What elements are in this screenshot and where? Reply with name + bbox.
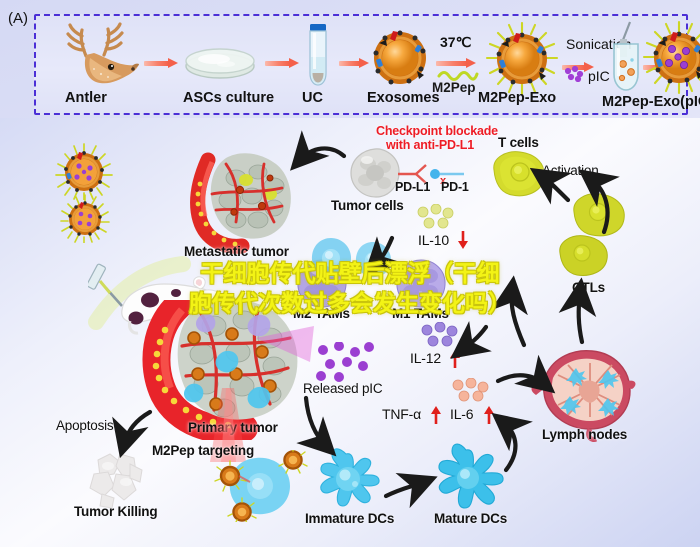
centrifuge-tube-icon xyxy=(303,23,333,87)
label-tumor-killing: Tumor Killing xyxy=(74,504,157,519)
dc-cell-small-icon-2 xyxy=(352,240,394,280)
label-il-6: IL-6 xyxy=(450,406,473,422)
label-ctls: CTLs xyxy=(572,280,605,295)
panel-a-caption-uc: UC xyxy=(302,90,323,106)
il6-up-arrow-icon xyxy=(483,405,495,425)
sonicator-tube-icon xyxy=(608,20,644,92)
label-primary-tumor: Primary tumor xyxy=(188,420,278,435)
pic-particles-icon xyxy=(563,66,585,82)
label-m1-tams: M1 TAMs xyxy=(392,306,449,321)
process-arrow-1 xyxy=(144,58,178,69)
panel-a-caption-ascs: ASCs culture xyxy=(183,90,274,106)
label-activation: Activation xyxy=(542,163,599,178)
panel-a-container: Antler ASCs culture xyxy=(34,14,688,115)
reaction-label-pic: pIC xyxy=(588,68,610,84)
m2pep-targeting-illustration xyxy=(208,450,308,522)
label-metastatic-tumor: Metastatic tumor xyxy=(184,244,289,259)
label-il-12: IL-12 xyxy=(410,350,441,366)
apoptotic-cell-icon xyxy=(82,448,152,510)
dc-cell-small-icon-1 xyxy=(308,236,354,280)
nanoparticle-icon-2 xyxy=(60,193,110,243)
deer-head-icon xyxy=(56,22,142,90)
label-apoptosis: Apoptosis xyxy=(56,418,114,433)
label-mature-dcs: Mature DCs xyxy=(434,511,507,526)
reaction-label-m2pep: M2Pep xyxy=(432,80,476,95)
il12-up-arrow-icon xyxy=(449,349,461,369)
label-tumor-cells: Tumor cells xyxy=(331,198,404,213)
ctl-cell-icon-2 xyxy=(553,232,615,280)
label-lymph-nodes: Lymph nodes xyxy=(542,427,627,442)
label-checkpoint-blockade: Checkpoint blockade xyxy=(376,124,498,138)
exosome-icon xyxy=(371,29,429,87)
panel-a-caption-m2pep-exo: M2Pep-Exo xyxy=(478,90,556,106)
panel-a-caption-exosomes: Exosomes xyxy=(367,90,440,106)
immature-dc-icon xyxy=(310,442,388,516)
process-arrow-3 xyxy=(339,58,369,69)
nanoparticle-icon-1 xyxy=(55,142,113,200)
il12-cytokine-dots xyxy=(418,322,464,350)
metastatic-tumor-icon xyxy=(178,148,306,254)
spacer xyxy=(450,378,452,380)
tnf-cytokine-dots xyxy=(450,378,492,406)
panel-a-caption-m2pep-exo-pic: M2Pep-Exo(pIC) xyxy=(602,94,700,110)
label-pd-l1: PD-L1 xyxy=(395,180,430,194)
petri-dish-icon xyxy=(182,40,258,82)
label-immature-dcs: Immature DCs xyxy=(305,511,394,526)
m1-tam-cell-icon xyxy=(393,258,449,310)
label-anti-pdl1: with anti-PD-L1 xyxy=(386,138,474,152)
primary-tumor-icon xyxy=(138,300,316,440)
il10-cytokine-dots xyxy=(414,204,460,232)
released-pic-dots xyxy=(313,342,377,384)
reaction-label-temperature: 37℃ xyxy=(440,34,471,51)
peptide-exosome-icon xyxy=(485,22,559,96)
mature-dc-icon xyxy=(428,440,510,516)
figure-root: (A) xyxy=(0,0,700,547)
il10-down-arrow-icon xyxy=(457,230,469,250)
tnf-up-arrow-icon xyxy=(430,405,442,425)
label-tnf-alpha: TNF-α xyxy=(382,406,421,422)
label-pd-1: PD-1 xyxy=(441,180,469,194)
process-arrow-2 xyxy=(265,58,299,69)
t-cell-icon xyxy=(484,148,550,200)
label-t-cells: T cells xyxy=(498,135,539,150)
panel-a-caption-antler: Antler xyxy=(65,90,107,106)
loaded-exosome-icon xyxy=(641,20,700,96)
label-il-10: IL-10 xyxy=(418,232,449,248)
panel-a-tag: (A) xyxy=(8,10,28,27)
